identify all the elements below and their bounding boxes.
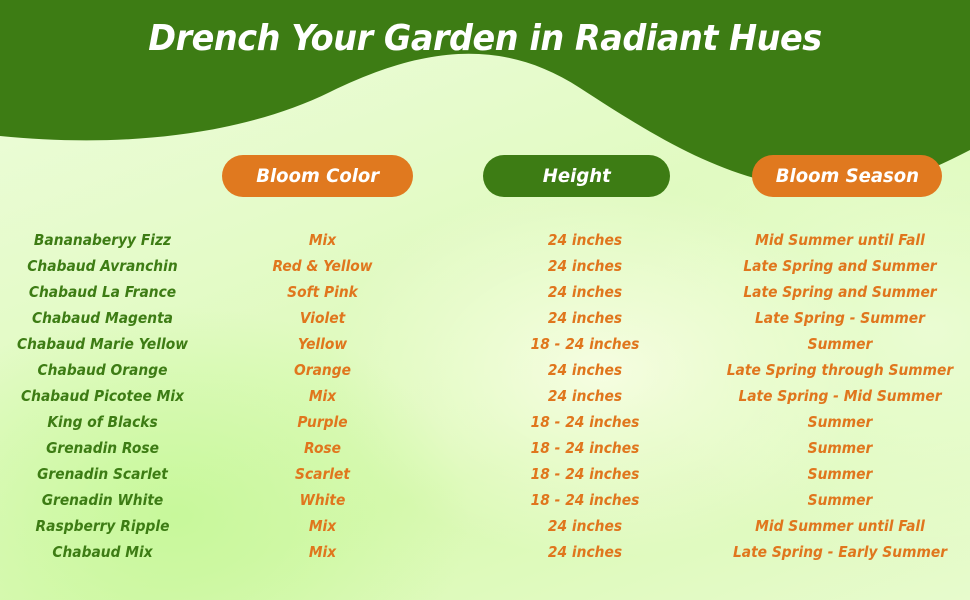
variety-name-cell: Chabaud Avranchin <box>8 257 197 275</box>
bloom-color-cell: Mix <box>233 387 412 405</box>
bloom-season-cell: Mid Summer until Fall <box>725 231 955 249</box>
height-cell: 24 inches <box>493 283 677 301</box>
bloom-color-cell: White <box>233 491 412 509</box>
bloom-season-cell: Late Spring - Summer <box>725 309 955 327</box>
column-header-height: Height <box>483 155 670 197</box>
bloom-color-cell: Violet <box>233 309 412 327</box>
poster-root: Drench Your Garden in Radiant Hues Bloom… <box>0 0 970 600</box>
table-row: Bananaberyy FizzMix24 inchesMid Summer u… <box>0 227 970 253</box>
bloom-color-cell: Mix <box>233 517 412 535</box>
variety-name-cell: King of Blacks <box>8 413 197 431</box>
height-cell: 24 inches <box>493 361 677 379</box>
height-cell: 18 - 24 inches <box>493 335 677 353</box>
bloom-color-cell: Orange <box>233 361 412 379</box>
bloom-season-cell: Summer <box>725 413 955 431</box>
variety-name-cell: Grenadin Rose <box>8 439 197 457</box>
table-row: Chabaud AvranchinRed & Yellow24 inchesLa… <box>0 253 970 279</box>
table-row: Chabaud Marie YellowYellow18 - 24 inches… <box>0 331 970 357</box>
height-cell: 24 inches <box>493 517 677 535</box>
bloom-season-cell: Late Spring and Summer <box>725 283 955 301</box>
page-title: Drench Your Garden in Radiant Hues <box>34 18 936 59</box>
variety-name-cell: Bananaberyy Fizz <box>8 231 197 249</box>
variety-table: Bananaberyy FizzMix24 inchesMid Summer u… <box>0 227 970 565</box>
table-row: Chabaud MixMix24 inchesLate Spring - Ear… <box>0 539 970 565</box>
table-row: Chabaud Picotee MixMix24 inchesLate Spri… <box>0 383 970 409</box>
bloom-season-cell: Summer <box>725 491 955 509</box>
table-row: Raspberry RippleMix24 inchesMid Summer u… <box>0 513 970 539</box>
bloom-season-cell: Summer <box>725 465 955 483</box>
variety-name-cell: Chabaud Marie Yellow <box>8 335 197 353</box>
column-header-height-label: Height <box>543 165 611 187</box>
height-cell: 18 - 24 inches <box>493 413 677 431</box>
height-cell: 18 - 24 inches <box>493 491 677 509</box>
bloom-season-cell: Late Spring and Summer <box>725 257 955 275</box>
height-cell: 24 inches <box>493 231 677 249</box>
height-cell: 24 inches <box>493 543 677 561</box>
table-row: King of BlacksPurple18 - 24 inchesSummer <box>0 409 970 435</box>
height-cell: 18 - 24 inches <box>493 465 677 483</box>
table-row: Grenadin RoseRose18 - 24 inchesSummer <box>0 435 970 461</box>
bloom-season-cell: Summer <box>725 439 955 457</box>
column-header-bloom-season: Bloom Season <box>752 155 942 197</box>
table-row: Grenadin WhiteWhite18 - 24 inchesSummer <box>0 487 970 513</box>
bloom-season-cell: Summer <box>725 335 955 353</box>
table-row: Chabaud OrangeOrange24 inchesLate Spring… <box>0 357 970 383</box>
variety-name-cell: Chabaud Magenta <box>8 309 197 327</box>
bloom-color-cell: Rose <box>233 439 412 457</box>
column-header-bloom-color-label: Bloom Color <box>256 165 379 187</box>
height-cell: 24 inches <box>493 257 677 275</box>
bloom-season-cell: Mid Summer until Fall <box>725 517 955 535</box>
variety-name-cell: Grenadin White <box>8 491 197 509</box>
variety-name-cell: Chabaud Mix <box>8 543 197 561</box>
bloom-color-cell: Mix <box>233 231 412 249</box>
height-cell: 24 inches <box>493 387 677 405</box>
bloom-season-cell: Late Spring through Summer <box>725 361 955 379</box>
bloom-color-cell: Yellow <box>233 335 412 353</box>
bloom-season-cell: Late Spring - Early Summer <box>725 543 955 561</box>
bloom-color-cell: Scarlet <box>233 465 412 483</box>
variety-name-cell: Raspberry Ripple <box>8 517 197 535</box>
table-row: Chabaud La FranceSoft Pink24 inchesLate … <box>0 279 970 305</box>
variety-name-cell: Grenadin Scarlet <box>8 465 197 483</box>
variety-name-cell: Chabaud Picotee Mix <box>8 387 197 405</box>
height-cell: 18 - 24 inches <box>493 439 677 457</box>
bloom-color-cell: Soft Pink <box>233 283 412 301</box>
height-cell: 24 inches <box>493 309 677 327</box>
bloom-color-cell: Mix <box>233 543 412 561</box>
table-row: Chabaud MagentaViolet24 inchesLate Sprin… <box>0 305 970 331</box>
column-header-bloom-color: Bloom Color <box>222 155 413 197</box>
variety-name-cell: Chabaud La France <box>8 283 197 301</box>
table-row: Grenadin ScarletScarlet18 - 24 inchesSum… <box>0 461 970 487</box>
bloom-season-cell: Late Spring - Mid Summer <box>725 387 955 405</box>
variety-name-cell: Chabaud Orange <box>8 361 197 379</box>
bloom-color-cell: Purple <box>233 413 412 431</box>
column-header-bloom-season-label: Bloom Season <box>775 165 918 187</box>
bloom-color-cell: Red & Yellow <box>233 257 412 275</box>
